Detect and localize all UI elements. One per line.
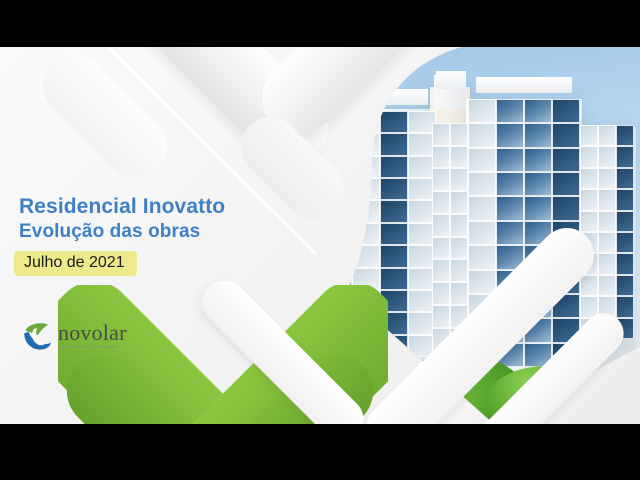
window	[380, 178, 408, 200]
window	[380, 200, 408, 222]
window	[380, 111, 408, 133]
page-subtitle: Evolução das obras	[19, 221, 225, 244]
window	[598, 146, 616, 167]
window	[468, 148, 496, 172]
window	[524, 99, 552, 123]
window	[616, 253, 634, 274]
letterbox-bar-bottom	[0, 424, 640, 480]
title-card: Residencial Inovatto Evolução das obras …	[0, 0, 640, 480]
window	[380, 223, 408, 245]
window	[380, 133, 408, 155]
window	[598, 168, 616, 189]
window	[524, 172, 552, 196]
window	[432, 123, 450, 146]
letterbox-bar-top	[0, 0, 640, 47]
window	[616, 189, 634, 210]
window	[496, 148, 524, 172]
window	[450, 168, 468, 191]
window	[380, 156, 408, 178]
window	[580, 146, 598, 167]
window	[450, 214, 468, 237]
window	[450, 282, 468, 305]
date-badge: Julho de 2021	[14, 251, 137, 276]
window	[616, 296, 634, 317]
novolar-logo: novolar uma empresa do Grupo Patrimar	[22, 321, 127, 351]
window	[524, 148, 552, 172]
slide-canvas: Residencial Inovatto Evolução das obras …	[0, 47, 640, 424]
logo-wordmark: novolar	[58, 322, 127, 344]
window	[552, 196, 580, 220]
headline-block: Residencial Inovatto Evolução das obras …	[19, 195, 225, 276]
window	[580, 275, 598, 296]
window	[468, 221, 496, 245]
window	[580, 168, 598, 189]
window	[598, 125, 616, 146]
window	[552, 148, 580, 172]
window	[450, 146, 468, 169]
window	[496, 221, 524, 245]
window	[468, 245, 496, 269]
window	[432, 214, 450, 237]
window	[580, 125, 598, 146]
window	[432, 259, 450, 282]
window	[496, 99, 524, 123]
window	[616, 146, 634, 167]
window	[468, 99, 496, 123]
window	[496, 196, 524, 220]
window	[432, 282, 450, 305]
window	[598, 232, 616, 253]
window	[552, 123, 580, 147]
window	[432, 305, 450, 328]
window	[616, 211, 634, 232]
window-grid-side	[580, 125, 634, 339]
window	[616, 168, 634, 189]
window	[616, 275, 634, 296]
window	[432, 237, 450, 260]
logo-tagline: uma empresa do Grupo Patrimar	[58, 346, 127, 350]
window	[450, 259, 468, 282]
window	[552, 172, 580, 196]
window	[468, 172, 496, 196]
window	[616, 232, 634, 253]
window	[524, 123, 552, 147]
window	[580, 189, 598, 210]
window	[432, 191, 450, 214]
novolar-logo-text: novolar uma empresa do Grupo Patrimar	[58, 322, 127, 350]
window	[598, 211, 616, 232]
window	[450, 237, 468, 260]
window	[432, 168, 450, 191]
window	[598, 253, 616, 274]
window	[598, 275, 616, 296]
window	[616, 125, 634, 146]
window	[432, 146, 450, 169]
window	[552, 99, 580, 123]
window	[380, 245, 408, 267]
window	[468, 123, 496, 147]
window	[450, 191, 468, 214]
window	[496, 172, 524, 196]
window	[496, 123, 524, 147]
window	[524, 196, 552, 220]
roof-cap	[476, 77, 572, 93]
window	[468, 196, 496, 220]
page-title: Residencial Inovatto	[19, 195, 225, 219]
novolar-logo-icon	[22, 321, 52, 351]
window	[580, 211, 598, 232]
roof-cap	[436, 71, 466, 89]
window	[598, 189, 616, 210]
window	[450, 123, 468, 146]
